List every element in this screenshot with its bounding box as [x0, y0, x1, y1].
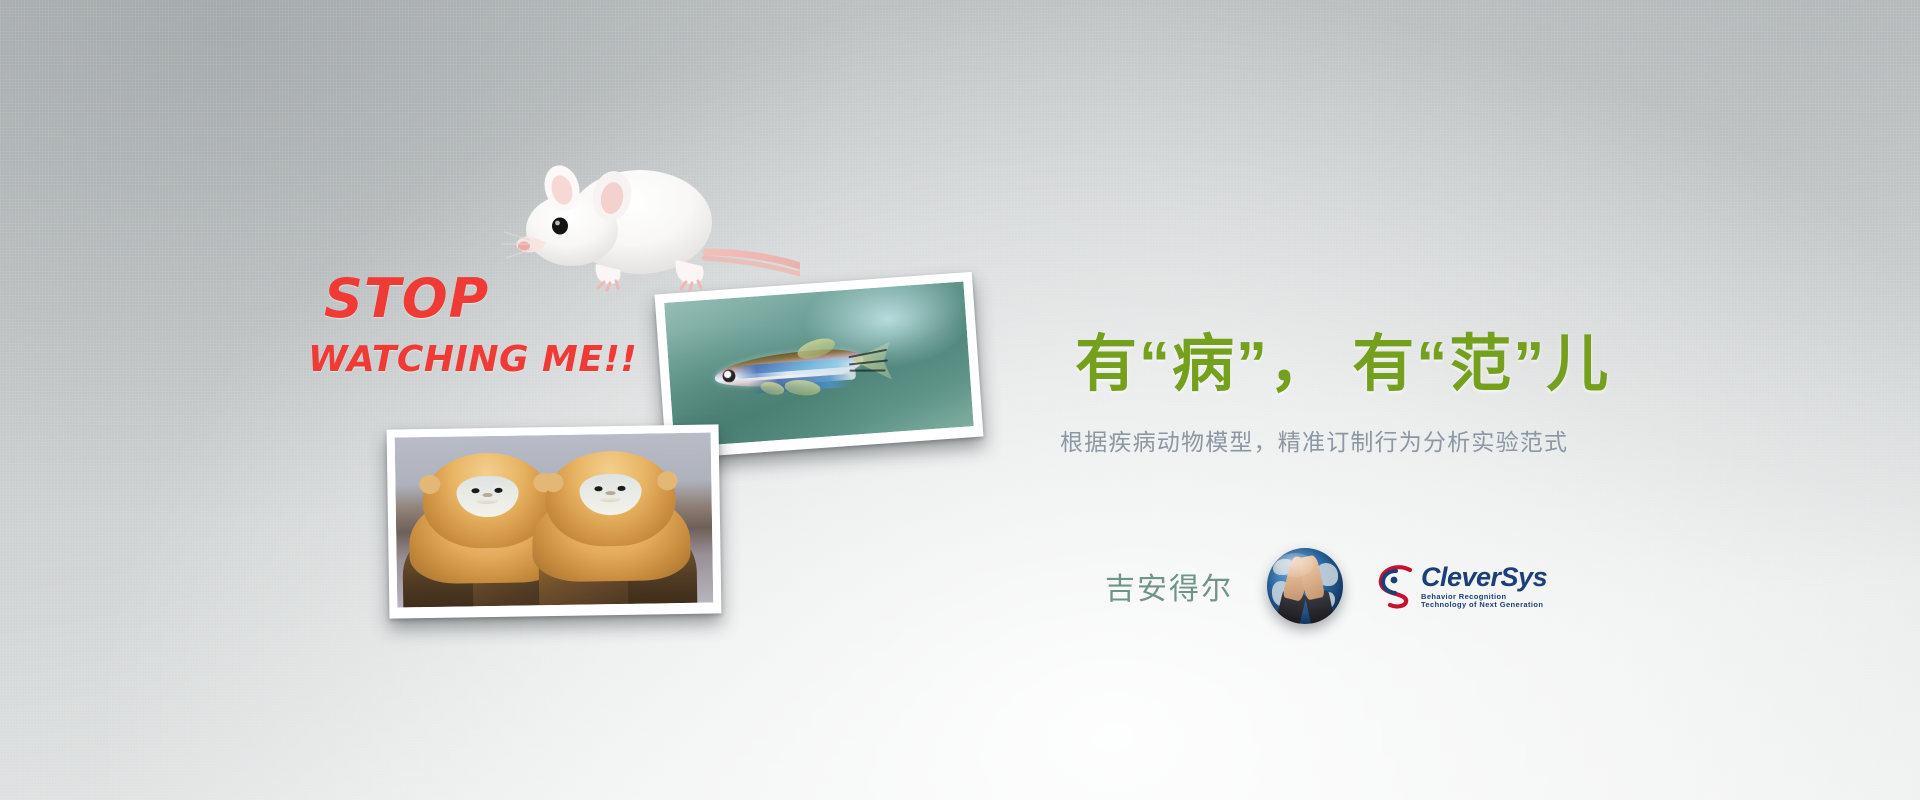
- stop-line: STOP: [324, 272, 637, 326]
- mouse-hind-paw: [681, 281, 701, 290]
- monkey-eye: [595, 486, 603, 491]
- monkey-nose: [605, 491, 615, 494]
- monkey-mouth: [477, 499, 498, 505]
- monkey-eye: [618, 486, 626, 491]
- monkey-ear: [657, 471, 678, 490]
- fish-tail-stripe: [849, 370, 885, 372]
- monkey-eye: [495, 488, 503, 493]
- banner-stage: STOP WATCHING ME!! 有“病”， 有“范”儿 根据疾病动物模型，…: [0, 0, 1920, 800]
- cleversys-text-block: CleverSys Behavior Recognition Technolog…: [1421, 564, 1547, 609]
- page-subtitle: 根据疾病动物模型，精准订制行为分析实验范式: [1060, 423, 1750, 457]
- brand-row: 吉安得尔 CleverSys Behavior Recognition Tech…: [1105, 548, 1547, 624]
- monkey-face: [579, 473, 642, 516]
- monkey-nose: [482, 493, 492, 496]
- brand-name: 吉安得尔: [1105, 564, 1233, 608]
- cleversys-name: CleverSys: [1421, 564, 1547, 591]
- monkey-ear: [543, 473, 564, 492]
- monkey-mouth: [600, 497, 621, 503]
- headline-block: 有“病”， 有“范”儿 根据疾病动物模型，精准订制行为分析实验范式: [1050, 330, 1750, 457]
- monkey-head: [545, 450, 676, 547]
- monkey-ear: [420, 474, 441, 493]
- zebrafish-image: [664, 281, 974, 447]
- cleversys-swoosh-icon: [1377, 563, 1417, 609]
- page-title: 有“病”， 有“范”儿: [1075, 330, 1750, 399]
- monkey-face: [456, 475, 519, 518]
- cleversys-tagline-2: Technology of Next Generation: [1421, 601, 1547, 609]
- watching-me-line: WATCHING ME!!: [308, 342, 637, 378]
- cleversys-logo[interactable]: CleverSys Behavior Recognition Technolog…: [1377, 563, 1547, 609]
- mouse-nose: [518, 242, 530, 251]
- monkey-photo-frame[interactable]: [387, 424, 722, 618]
- stop-watching-me-callout: STOP WATCHING ME!!: [308, 272, 637, 378]
- zebrafish-photo-inner: [664, 281, 974, 447]
- monkey-eye: [472, 488, 480, 493]
- globe-handshake-icon[interactable]: [1267, 548, 1343, 624]
- mouse-eye: [552, 218, 568, 235]
- monkey-image: [395, 433, 714, 608]
- monkey-right: [531, 446, 692, 607]
- globe-highlight: [1276, 553, 1314, 577]
- cleversys-tagline-1: Behavior Recognition: [1421, 593, 1547, 601]
- monkey-photo-inner: [395, 433, 714, 608]
